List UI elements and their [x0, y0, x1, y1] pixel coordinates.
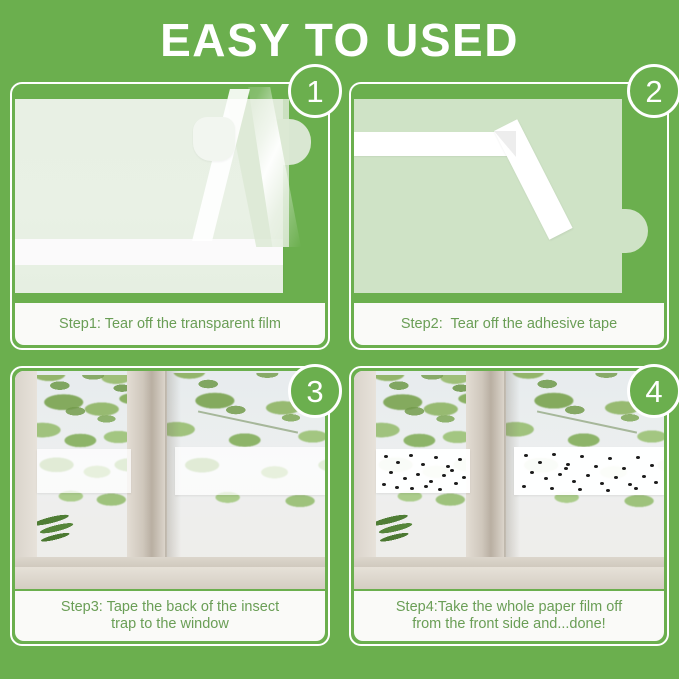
product-sheet-graphic [354, 99, 622, 293]
step-2-caption: Step2: Tear off the adhesive tape [354, 303, 664, 345]
step-panel-4: Step4:Take the whole paper film off from… [349, 366, 669, 646]
window-sill [15, 567, 325, 589]
step-4-photo [354, 371, 664, 589]
step-1-caption: Step1: Tear off the transparent film [15, 303, 325, 345]
sheet-side-tab [612, 209, 648, 253]
illustration-background [15, 87, 325, 293]
step-panel-1: Step1: Tear off the transparent film [10, 82, 330, 350]
step-number-badge-4: 4 [627, 364, 679, 418]
step-1-illustration [15, 87, 325, 293]
film-curl-corner [193, 117, 235, 161]
illustration-background [354, 87, 664, 293]
trap-strip-left [37, 449, 131, 493]
step-number-badge-3: 3 [288, 364, 342, 418]
step-3-caption: Step3: Tape the back of the insect trap … [15, 591, 325, 641]
step-panel-3: Step3: Tape the back of the insect trap … [10, 366, 330, 646]
window-mullion [466, 371, 506, 567]
sheet-white-band [15, 239, 283, 265]
page-title: EASY TO USED [0, 14, 679, 66]
trap-strip-right [175, 447, 325, 495]
window-sill [354, 567, 664, 589]
step-number-badge-1: 1 [288, 64, 342, 118]
trap-strip-right-used [514, 447, 664, 495]
step-number-badge-2: 2 [627, 64, 679, 118]
step-4-caption: Step4:Take the whole paper film off from… [354, 591, 664, 641]
caught-insects-left [376, 449, 470, 493]
step-2-illustration [354, 87, 664, 293]
step-3-photo [15, 371, 325, 589]
trap-strip-left-used [376, 449, 470, 493]
window-mullion [127, 371, 167, 567]
adhesive-tape-horizontal [354, 132, 511, 156]
step-panel-2: Step2: Tear off the adhesive tape [349, 82, 669, 350]
infographic-canvas: EASY TO USED Step1: Tear off the transpa… [0, 0, 679, 679]
caught-insects-right [514, 447, 664, 495]
